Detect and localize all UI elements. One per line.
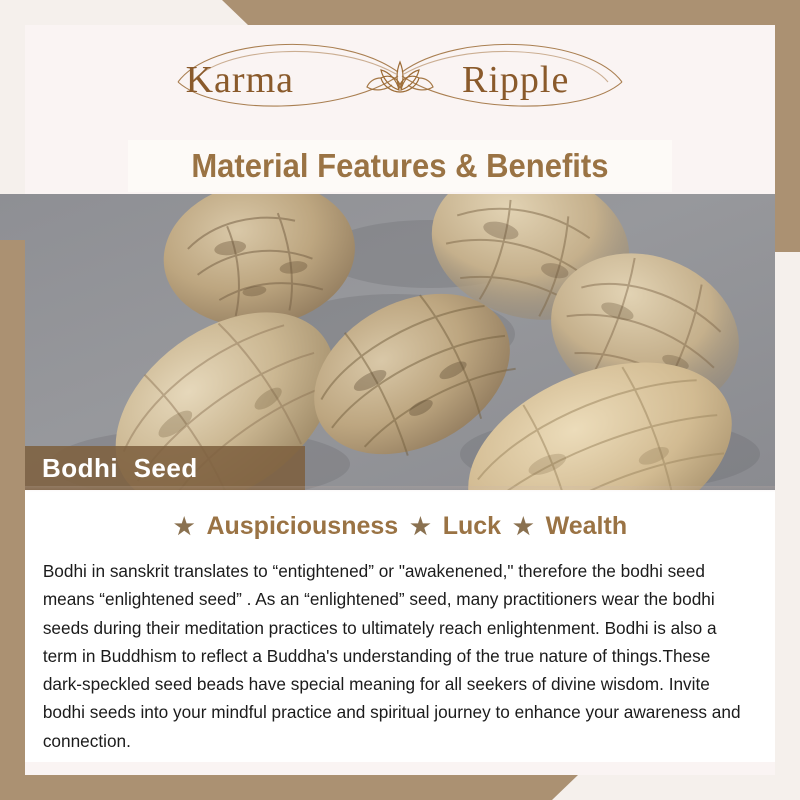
star-icon: ★ (171, 513, 198, 539)
description-paragraph: Bodhi in sanskrit translates to “entight… (25, 541, 768, 755)
photo-caption-band: Bodhi Seed (0, 446, 305, 490)
section-title-banner: Material Features & Benefits (128, 140, 672, 192)
brand-logo: Karma Ripple (0, 30, 800, 118)
right-edge-decoration (775, 0, 800, 252)
promo-card: Karma Ripple Material Features & Benefit… (0, 0, 800, 800)
benefit-item-wealth: Wealth (544, 512, 630, 540)
benefits-list: ★ Auspiciousness ★ Luck ★ Wealth (25, 490, 775, 541)
photo-caption-label: Bodhi Seed (0, 453, 198, 484)
description-section: ★ Auspiciousness ★ Luck ★ Wealth Bodhi i… (25, 490, 775, 762)
benefit-item-auspiciousness: Auspiciousness (204, 512, 400, 540)
star-icon: ★ (407, 513, 434, 539)
logo-artwork: Karma Ripple (170, 30, 630, 118)
brand-word-left: Karma (186, 59, 294, 101)
photo-text-divider (25, 486, 775, 492)
benefit-item-luck: Luck (441, 512, 503, 540)
brand-word-right: Ripple (462, 59, 569, 101)
top-right-corner-decoration (0, 0, 800, 25)
page-title: Material Features & Benefits (191, 147, 608, 185)
bottom-left-corner-decoration (0, 775, 800, 800)
star-icon: ★ (510, 513, 537, 539)
left-edge-decoration (0, 240, 25, 800)
